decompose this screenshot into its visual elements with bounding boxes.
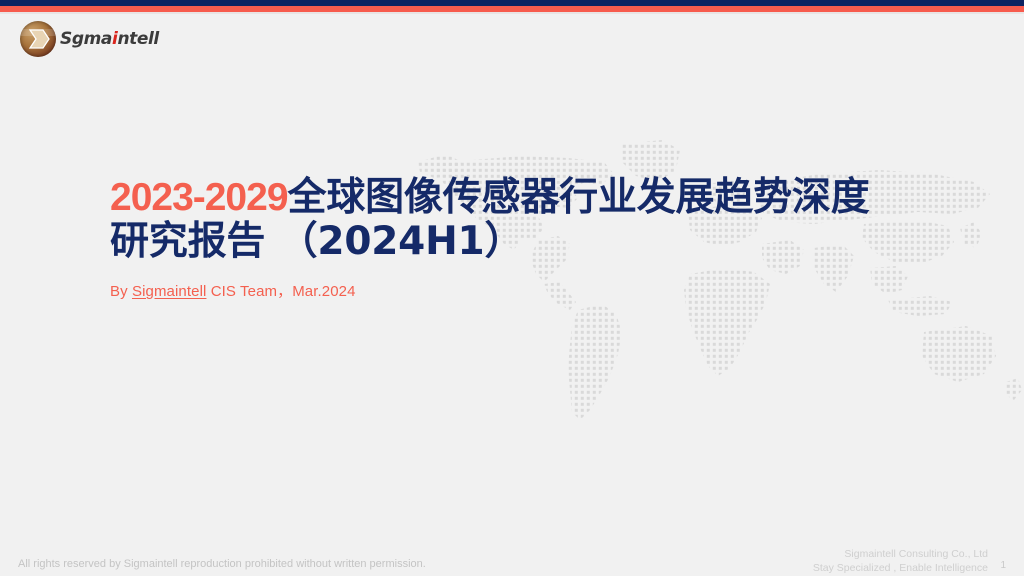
sigmaintell-sphere-icon	[20, 21, 56, 57]
top-band-separator	[0, 12, 1024, 14]
byline-brand-link[interactable]: Sigmaintell	[132, 283, 206, 300]
footer-company-block: Sigmaintell Consulting Co., Ltd Stay Spe…	[813, 547, 988, 575]
byline-suffix: CIS Team，Mar.2024	[206, 283, 355, 300]
sigmaintell-wordmark: Sgmaintell	[60, 31, 159, 48]
wordmark-part-1: S	[60, 29, 72, 49]
footer-company-name: Sigmaintell Consulting Co., Ltd	[813, 547, 988, 561]
headline-block: 2023-2029全球图像传感器行业发展趋势深度研究报告 （2024H1） By…	[110, 176, 890, 301]
footer-copyright: All rights reserved by Sigmaintell repro…	[18, 558, 426, 570]
page-number: 1	[1000, 560, 1006, 571]
sigmaintell-logo[interactable]: Sgmaintell	[20, 20, 159, 58]
byline: By Sigmaintell CIS Team，Mar.2024	[110, 280, 890, 301]
page-title: 2023-2029全球图像传感器行业发展趋势深度研究报告 （2024H1）	[110, 176, 890, 264]
wordmark-part-2: gma	[72, 29, 112, 49]
byline-prefix: By	[110, 283, 132, 300]
footer-tagline: Stay Specialized , Enable Intelligence	[813, 561, 988, 575]
title-slide: Sgmaintell 2023-2029全球图像传感器行业发展趋势深度研究报告 …	[0, 0, 1024, 576]
chevron-right-icon	[27, 27, 51, 51]
wordmark-part-3: ntell	[117, 29, 158, 49]
title-year-range: 2023-2029	[110, 176, 288, 219]
